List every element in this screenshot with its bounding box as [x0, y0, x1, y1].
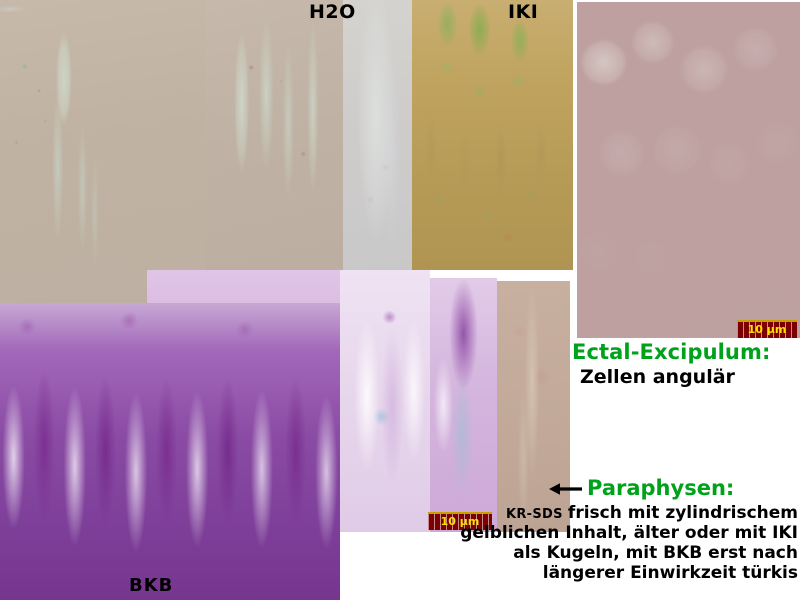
caption-paraphysen-line-3: als Kugeln, mit BKB erst nach	[368, 543, 798, 563]
caption-ectal-excipulum: Ectal-Excipulum: Zellen angulär	[572, 340, 800, 390]
panel-bkb-pale	[340, 270, 430, 532]
panel-brightfield-mid	[206, 0, 343, 270]
panel-label-h2o: H2O	[309, 1, 356, 23]
panel-bkb-narrow	[430, 278, 497, 532]
panel-iki	[412, 0, 573, 270]
panel-brightfield-left	[0, 0, 206, 303]
caption-ectal-excipulum-heading: Ectal-Excipulum:	[572, 340, 800, 365]
panel-bkb-main	[0, 303, 340, 600]
scale-bar-excipulum: 10 µm	[737, 320, 797, 338]
caption-paraphysen: Paraphysen:	[545, 476, 800, 500]
figure-plate: 10 µm 10 µm H2O IKI BKB KR-SDS Ectal-Exc…	[0, 0, 800, 600]
panel-brightfield-pale	[343, 0, 412, 270]
caption-ectal-excipulum-subtitle: Zellen angulär	[572, 365, 800, 390]
panel-label-bkb: BKB	[129, 575, 173, 596]
panel-label-iki: IKI	[508, 1, 538, 23]
caption-paraphysen-line-1: frisch mit zylindrischem	[368, 503, 798, 523]
caption-paraphysen-line-2: gelblichen Inhalt, älter oder mit IKI	[368, 523, 798, 543]
caption-paraphysen-line-4: längerer Einwirkzeit türkis	[368, 563, 798, 583]
panel-ectal-excipulum	[577, 2, 800, 338]
caption-paraphysen-heading: Paraphysen:	[545, 476, 800, 500]
caption-paraphysen-body: frisch mit zylindrischem gelblichen Inha…	[368, 503, 798, 583]
